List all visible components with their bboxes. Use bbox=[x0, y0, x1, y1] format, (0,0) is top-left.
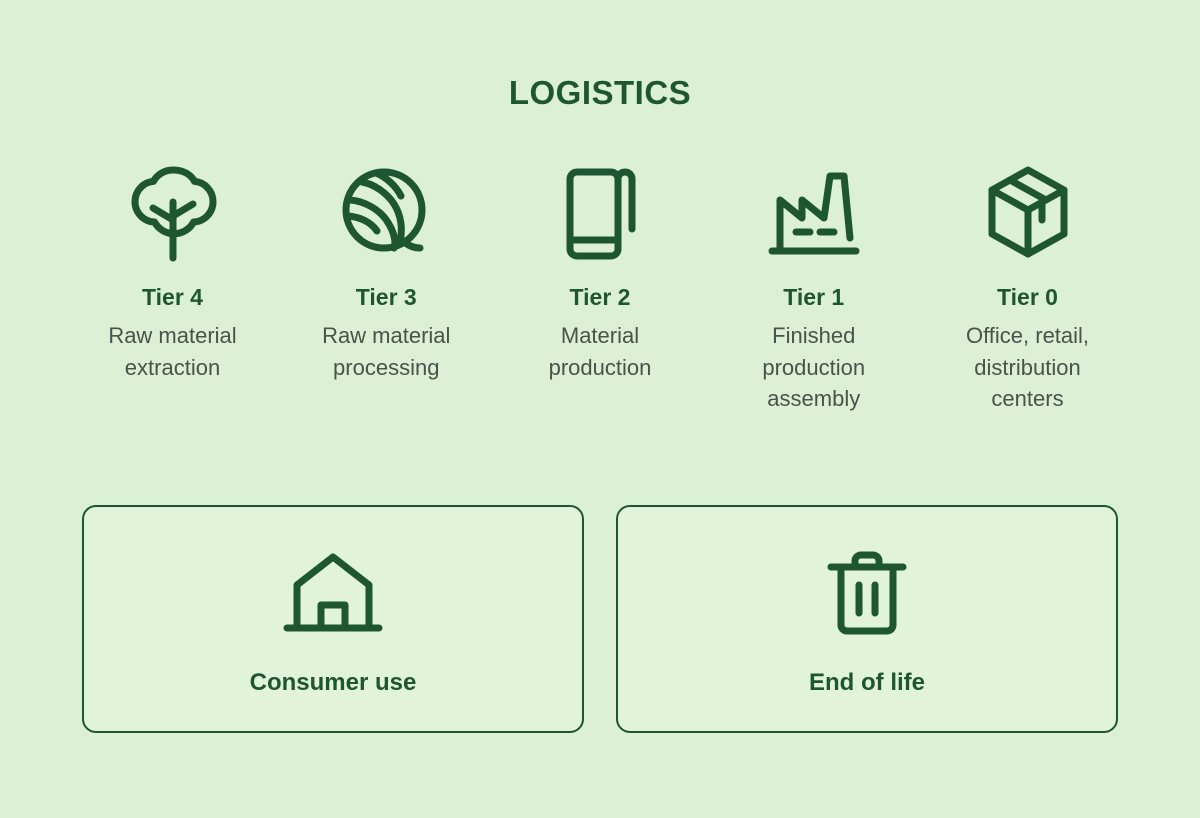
logistics-infographic: LOGISTICS Tier 4 Raw material extraction bbox=[0, 0, 1200, 818]
card-consumer-use[interactable]: Consumer use bbox=[82, 505, 584, 733]
tier-title: Tier 3 bbox=[356, 285, 417, 310]
tier-title: Tier 0 bbox=[997, 285, 1058, 310]
tier-title: Tier 4 bbox=[142, 285, 203, 310]
tier-row: Tier 4 Raw material extraction Tier 3 Ra… bbox=[66, 160, 1134, 414]
tier-title: Tier 1 bbox=[783, 285, 844, 310]
yarn-ball-icon bbox=[338, 160, 434, 268]
tier-description: Finished production assembly bbox=[762, 320, 865, 414]
towel-icon bbox=[552, 160, 648, 268]
tier-column-3: Tier 3 Raw material processing bbox=[280, 160, 493, 383]
tier-title: Tier 2 bbox=[570, 285, 631, 310]
tier-column-4: Tier 4 Raw material extraction bbox=[66, 160, 279, 383]
tier-description: Material production bbox=[549, 320, 652, 382]
trash-bin-icon bbox=[823, 541, 911, 645]
tier-description: Raw material processing bbox=[322, 320, 450, 382]
stage-cards: Consumer use End of life bbox=[82, 505, 1118, 733]
tree-icon bbox=[125, 160, 221, 268]
tier-description: Office, retail, distribution centers bbox=[966, 320, 1089, 414]
tier-column-2: Tier 2 Material production bbox=[494, 160, 707, 383]
card-label: End of life bbox=[809, 669, 925, 697]
factory-icon bbox=[762, 160, 866, 268]
tier-column-0: Tier 0 Office, retail, distribution cent… bbox=[921, 160, 1134, 414]
tier-description: Raw material extraction bbox=[108, 320, 236, 382]
card-end-of-life[interactable]: End of life bbox=[616, 505, 1118, 733]
tier-column-1: Tier 1 Finished production assembly bbox=[707, 160, 920, 414]
page-title: LOGISTICS bbox=[0, 74, 1200, 112]
house-icon bbox=[281, 541, 385, 645]
card-label: Consumer use bbox=[250, 669, 417, 697]
package-box-icon bbox=[980, 160, 1076, 268]
